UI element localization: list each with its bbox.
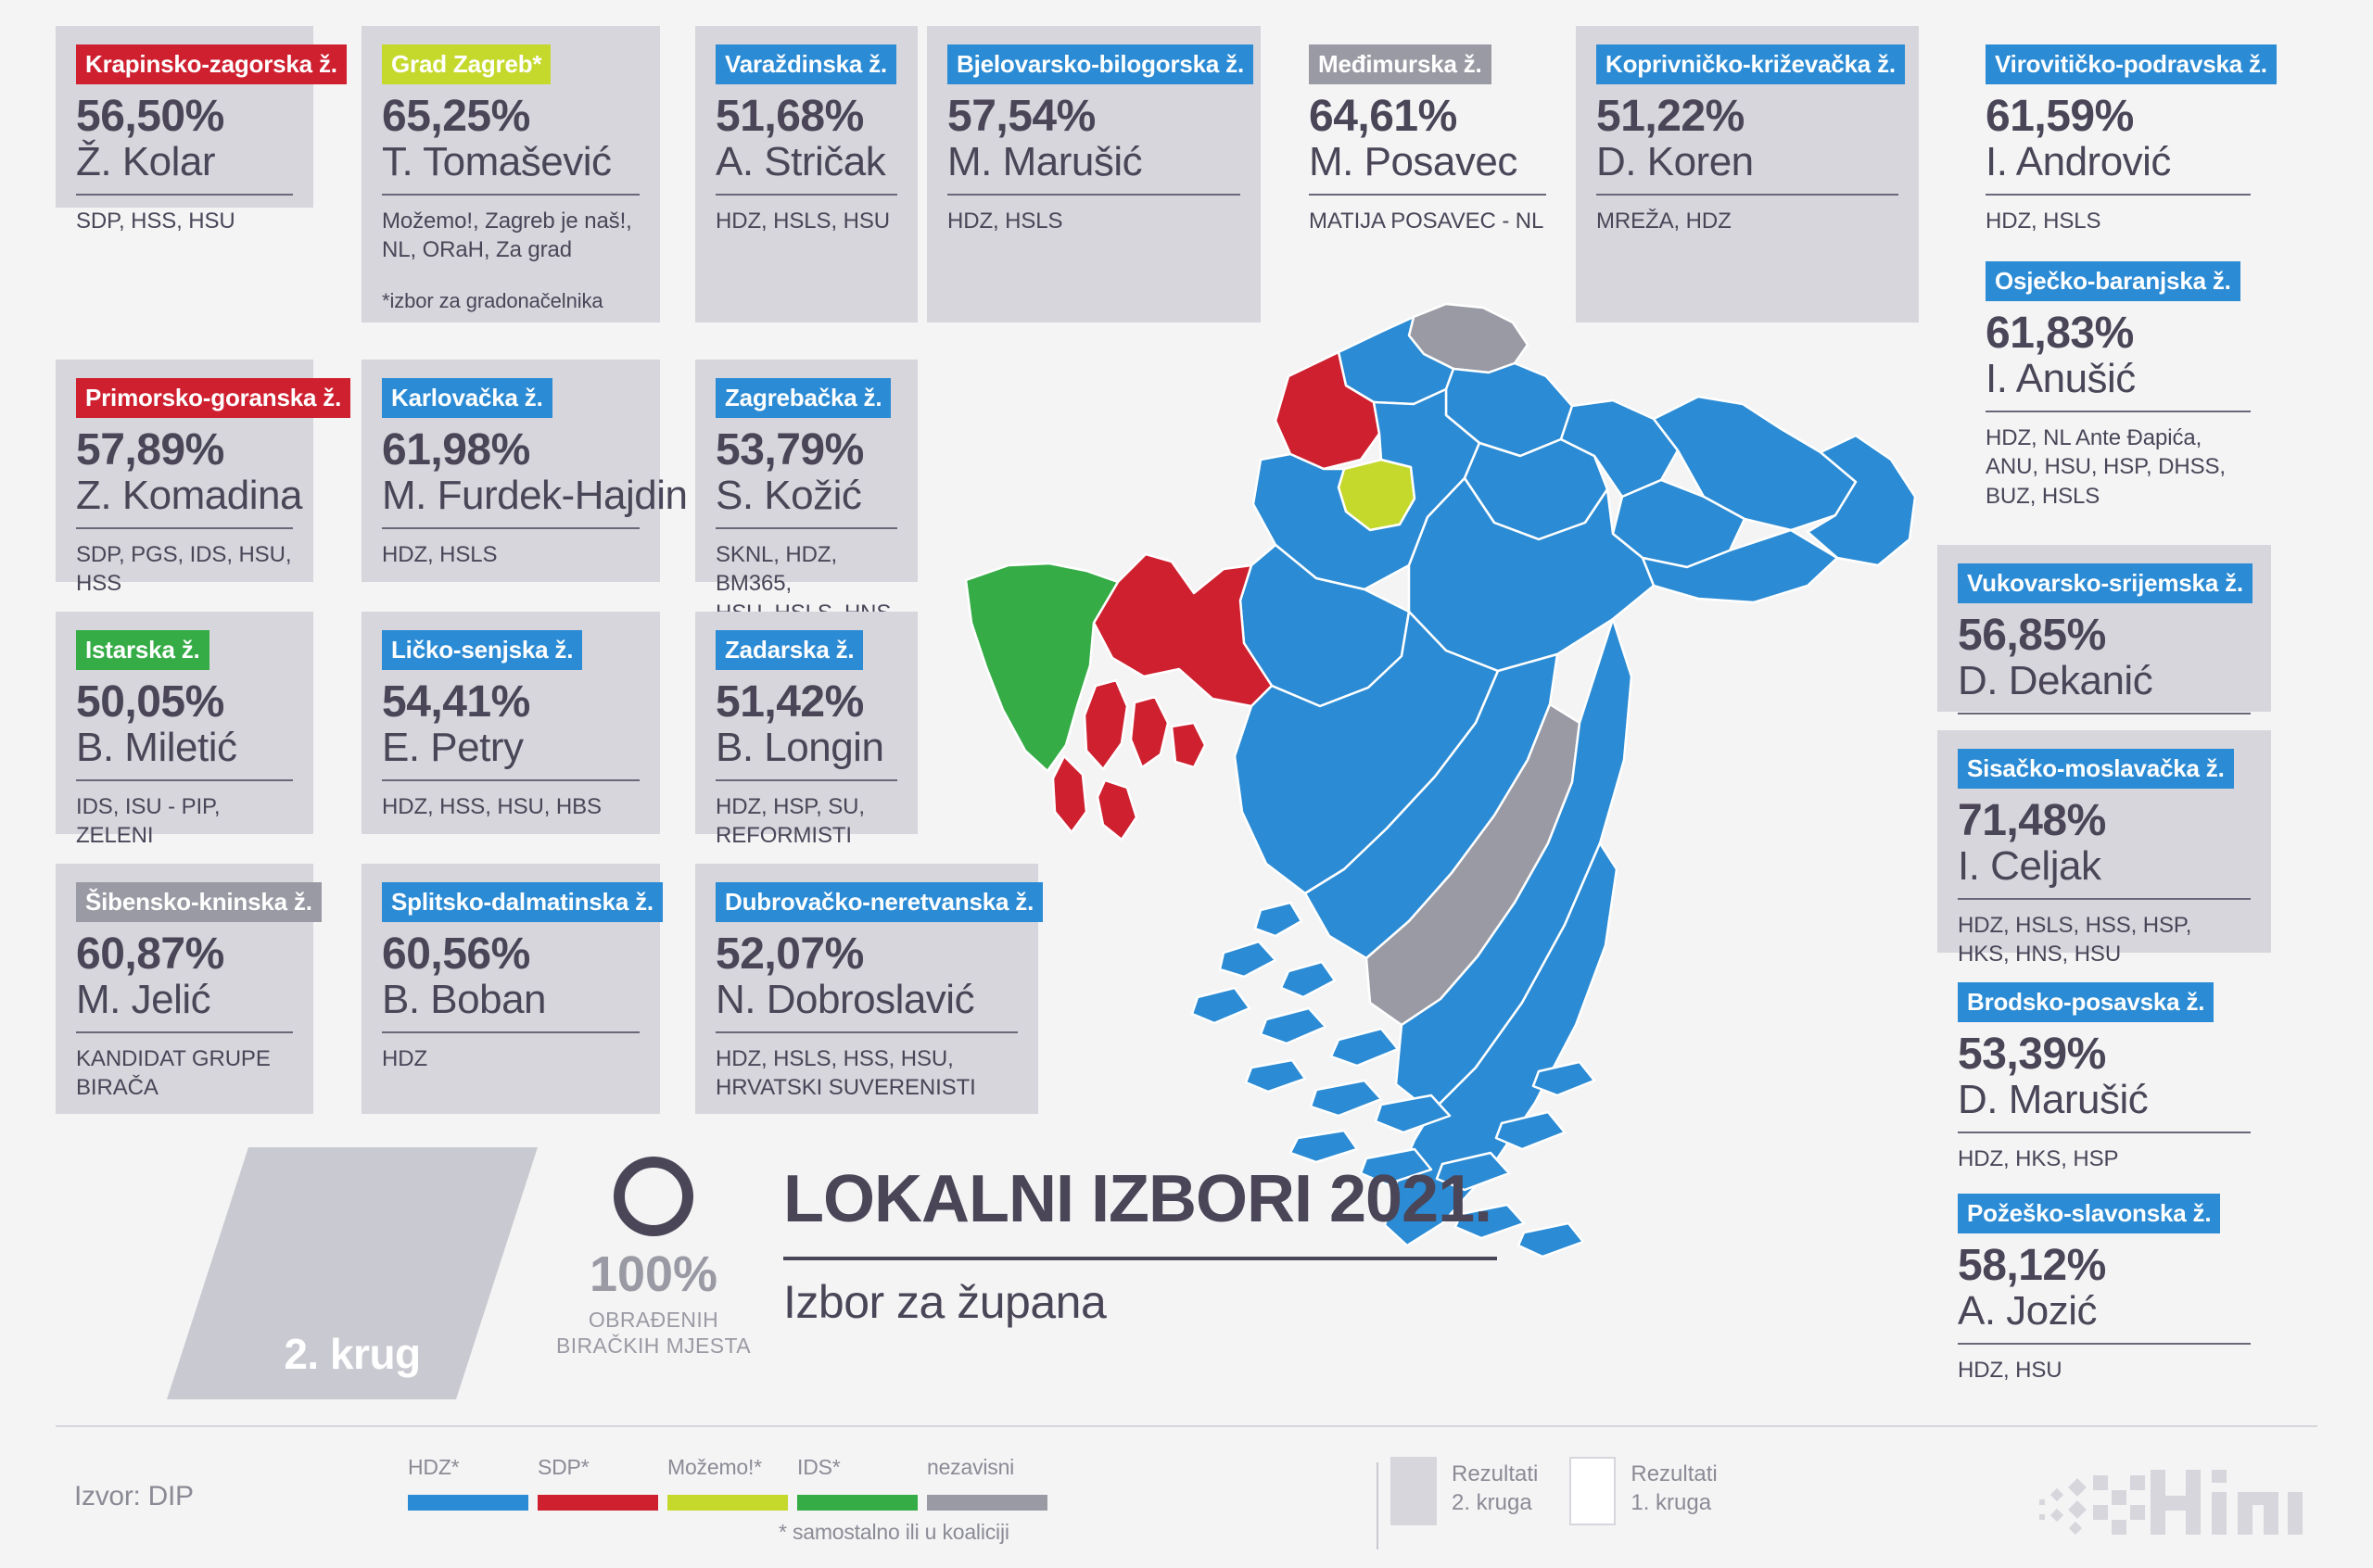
- percentage: 51,68%: [716, 94, 897, 141]
- legend-swatch: [538, 1495, 658, 1511]
- legend-label: HDZ*: [408, 1455, 538, 1480]
- result-card[interactable]: Varaždinska ž. 51,68% A. Stričak HDZ, HS…: [695, 26, 918, 322]
- candidate-name: B. Miletić: [76, 727, 236, 770]
- candidate-name: A. Stričak: [716, 141, 885, 184]
- region-tag: Primorsko-goranska ž.: [76, 378, 350, 418]
- legend-item[interactable]: SDP*: [538, 1455, 667, 1511]
- legend-item[interactable]: IDS*: [797, 1455, 927, 1511]
- percentage: 56,85%: [1958, 613, 2251, 660]
- page-title: LOKALNI IZBORI 2021.: [783, 1166, 1497, 1233]
- candidate-name: D. Marušić: [1958, 1079, 2148, 1122]
- legend-label: Možemo!*: [667, 1455, 797, 1480]
- divider: [76, 527, 293, 529]
- party-list: MREŽA, HDZ: [1596, 207, 1898, 236]
- divider: [1986, 411, 2251, 412]
- title-divider: [783, 1257, 1497, 1260]
- percentage: 57,54%: [947, 94, 1240, 141]
- candidate-name: B. Longin: [716, 727, 883, 770]
- legend-item[interactable]: Možemo!*: [667, 1455, 797, 1511]
- region-tag: Bjelovarsko-bilogorska ž.: [947, 44, 1253, 84]
- legend-footnote: * samostalno ili u koaliciji: [779, 1520, 1009, 1545]
- result-card[interactable]: Primorsko-goranska ž. 57,89% Z. Komadina…: [56, 360, 313, 582]
- result-card[interactable]: Grad Zagreb* 65,25% T. Tomašević Možemo!…: [362, 26, 660, 322]
- card-footnote: *izbor za gradonačelnika: [382, 289, 640, 313]
- region-tag: Ličko-senjska ž.: [382, 630, 582, 670]
- percentage: 58,12%: [1958, 1243, 2251, 1290]
- result-card[interactable]: Brodsko-posavska ž. 53,39% D. Marušić HD…: [1937, 964, 2271, 1149]
- result-card[interactable]: Međimurska ž. 64,61% M. Posavec MATIJA P…: [1288, 26, 1567, 239]
- party-list: IDS, ISU - PIP, ZELENI: [76, 792, 293, 851]
- candidate-name: N. Dobroslavić: [716, 979, 974, 1022]
- result-card[interactable]: Istarska ž. 50,05% B. Miletić IDS, ISU -…: [56, 612, 313, 834]
- party-list: HDZ, HSLS: [382, 540, 640, 570]
- result-card[interactable]: Virovitičko-podravska ž. 61,59% I. Andro…: [1965, 26, 2271, 230]
- divider: [1986, 194, 2251, 196]
- divider: [382, 527, 640, 529]
- region-tag: Požeško-slavonska ž.: [1958, 1194, 2220, 1233]
- result-card[interactable]: Vukovarsko-srijemska ž. 56,85% D. Dekani…: [1937, 545, 2271, 712]
- legend-label: IDS*: [797, 1455, 927, 1480]
- divider: [1309, 194, 1546, 196]
- round-legend: Rezultati 2. kruga Rezultati 1. kruga: [1390, 1457, 1718, 1525]
- round2-swatch: [1390, 1457, 1437, 1525]
- candidate-name: M. Marušić: [947, 141, 1142, 184]
- hina-logo: [2039, 1462, 2308, 1542]
- party-list: HDZ, HSLS: [947, 207, 1240, 236]
- party-list: HDZ, HKS, HSP: [1958, 1144, 2251, 1174]
- divider: [1958, 1343, 2251, 1345]
- party-list: HDZ, HSLS, HSU: [716, 207, 897, 236]
- result-card[interactable]: Karlovačka ž. 61,98% M. Furdek-Hajdin HD…: [362, 360, 660, 582]
- region-tag: Zagrebačka ž.: [716, 378, 891, 418]
- result-card[interactable]: Šibensko-kninska ž. 60,87% M. Jelić KAND…: [56, 864, 313, 1114]
- region-tag: Istarska ž.: [76, 630, 209, 670]
- party-list: HDZ, HSP, SU, REFORMISTI: [716, 792, 897, 851]
- round2-label: Rezultati 2. kruga: [1452, 1457, 1538, 1517]
- result-card[interactable]: Dubrovačko-neretvanska ž. 52,07% N. Dobr…: [695, 864, 1038, 1114]
- percentage: 60,56%: [382, 931, 640, 979]
- region-tag: Sisačko-moslavačka ž.: [1958, 749, 2234, 789]
- percentage: 50,05%: [76, 679, 293, 727]
- region-tag: Dubrovačko-neretvanska ž.: [716, 882, 1043, 922]
- ring-icon: [614, 1157, 693, 1236]
- turnout-caption: OBRAĐENIH BIRAČKIH MJESTA: [547, 1307, 760, 1359]
- percentage: 61,83%: [1986, 310, 2251, 358]
- candidate-name: T. Tomašević: [382, 141, 612, 184]
- party-list: HDZ, HSU: [1958, 1356, 2251, 1385]
- divider: [947, 194, 1240, 196]
- divider: [1596, 194, 1898, 196]
- percentage: 51,22%: [1596, 94, 1898, 141]
- footer-divider: [56, 1425, 2317, 1427]
- candidate-name: B. Boban: [382, 979, 546, 1022]
- region-tag: Grad Zagreb*: [382, 44, 551, 84]
- candidate-name: I. Andrović: [1986, 141, 2171, 184]
- result-card[interactable]: Ličko-senjska ž. 54,41% E. Petry HDZ, HS…: [362, 612, 660, 834]
- divider: [716, 1031, 1018, 1033]
- divider: [76, 779, 293, 781]
- croatia-county-map: [945, 287, 1937, 1270]
- percentage: 65,25%: [382, 94, 640, 141]
- candidate-name: M. Furdek-Hajdin: [382, 474, 687, 518]
- result-card[interactable]: Požeško-slavonska ž. 58,12% A. Jozić HDZ…: [1937, 1175, 2271, 1360]
- round1-legend-item[interactable]: Rezultati 1. kruga: [1569, 1457, 1717, 1525]
- candidate-name: D. Koren: [1596, 141, 1754, 184]
- party-list: SDP, PGS, IDS, HSU, HSS: [76, 540, 293, 599]
- percentage: 61,98%: [382, 427, 640, 474]
- percentage: 71,48%: [1958, 798, 2251, 845]
- round1-label: Rezultati 1. kruga: [1631, 1457, 1717, 1517]
- candidate-name: S. Kožić: [716, 474, 861, 518]
- percentage: 53,39%: [1958, 1031, 2251, 1079]
- party-list: HDZ, HSLS, HSS, HSU, HRVATSKI SUVERENIST…: [716, 1044, 1018, 1103]
- region-tag: Koprivničko-križevačka ž.: [1596, 44, 1905, 84]
- infographic-root: Krapinsko-zagorska ž. 56,50% Ž. Kolar SD…: [0, 0, 2373, 1568]
- legend-swatch: [408, 1495, 528, 1511]
- party-list: HDZ, HSS, HSU, HBS: [382, 792, 640, 822]
- legend-swatch: [797, 1495, 918, 1511]
- result-card[interactable]: Sisačko-moslavačka ž. 71,48% I. Celjak H…: [1937, 730, 2271, 953]
- footer-vertical-divider: [1377, 1462, 1378, 1549]
- page-subtitle: Izbor za župana: [783, 1279, 1497, 1325]
- legend-item[interactable]: HDZ*: [408, 1455, 538, 1511]
- region-tag: Krapinsko-zagorska ž.: [76, 44, 347, 84]
- region-tag: Splitsko-dalmatinska ž.: [382, 882, 663, 922]
- legend-swatch: [667, 1495, 788, 1511]
- candidate-name: Ž. Kolar: [76, 141, 215, 184]
- party-list: HDZ, HSLS, HSS, HSP, HKS, HNS, HSU: [1958, 911, 2251, 969]
- title-block: LOKALNI IZBORI 2021. Izbor za župana: [783, 1166, 1497, 1325]
- divider: [76, 194, 293, 196]
- party-list: HDZ: [382, 1044, 640, 1074]
- region-tag: Međimurska ž.: [1309, 44, 1491, 84]
- divider: [382, 1031, 640, 1033]
- percentage: 54,41%: [382, 679, 640, 727]
- percentage: 52,07%: [716, 931, 1018, 979]
- party-legend: HDZ* SDP* Možemo!* IDS* nezavisni: [408, 1455, 1057, 1511]
- candidate-name: I. Anušić: [1986, 358, 2136, 401]
- round-badge-label: 2. krug: [167, 1147, 538, 1399]
- candidate-name: I. Celjak: [1958, 845, 2100, 889]
- region-tag: Karlovačka ž.: [382, 378, 552, 418]
- percentage: 51,42%: [716, 679, 897, 727]
- candidate-name: Z. Komadina: [76, 474, 302, 518]
- candidate-name: D. Dekanić: [1958, 660, 2152, 703]
- percentage: 53,79%: [716, 427, 897, 474]
- party-list: Možemo!, Zagreb je naš!, NL, ORaH, Za gr…: [382, 207, 640, 265]
- legend-label: nezavisni: [927, 1455, 1057, 1480]
- legend-item[interactable]: nezavisni: [927, 1455, 1057, 1511]
- divider: [1958, 898, 2251, 900]
- region-tag: Varaždinska ž.: [716, 44, 896, 84]
- region-tag: Virovitičko-podravska ž.: [1986, 44, 2277, 84]
- divider: [382, 779, 640, 781]
- turnout-percent: 100%: [547, 1249, 760, 1299]
- percentage: 64,61%: [1309, 94, 1546, 141]
- divider: [382, 194, 640, 196]
- party-list: HDZ, HSLS: [1986, 207, 2251, 236]
- result-card[interactable]: Krapinsko-zagorska ž. 56,50% Ž. Kolar SD…: [56, 26, 313, 208]
- percentage: 56,50%: [76, 94, 293, 141]
- region-tag: Vukovarsko-srijemska ž.: [1958, 563, 2252, 603]
- candidate-name: M. Posavec: [1309, 141, 1517, 184]
- round1-swatch: [1569, 1457, 1616, 1525]
- result-card[interactable]: Zagrebačka ž. 53,79% S. Kožić SKNL, HDZ,…: [695, 360, 918, 582]
- source-label: Izvor: DIP: [74, 1481, 194, 1512]
- divider: [1958, 713, 2251, 714]
- divider: [716, 779, 897, 781]
- candidate-name: E. Petry: [382, 727, 524, 770]
- region-tag: Osječko-baranjska ž.: [1986, 261, 2240, 301]
- percentage: 60,87%: [76, 931, 293, 979]
- divider: [1958, 1132, 2251, 1133]
- result-card[interactable]: Splitsko-dalmatinska ž. 60,56% B. Boban …: [362, 864, 660, 1114]
- legend-swatch: [927, 1495, 1047, 1511]
- result-card[interactable]: Zadarska ž. 51,42% B. Longin HDZ, HSP, S…: [695, 612, 918, 834]
- region-tag: Zadarska ž.: [716, 630, 863, 670]
- party-list: MATIJA POSAVEC - NL: [1309, 207, 1546, 236]
- candidate-name: M. Jelić: [76, 979, 210, 1022]
- divider: [716, 527, 897, 529]
- percentage: 61,59%: [1986, 94, 2251, 141]
- divider: [716, 194, 897, 196]
- divider: [76, 1031, 293, 1033]
- candidate-name: A. Jozić: [1958, 1290, 2097, 1334]
- result-card[interactable]: Koprivničko-križevačka ž. 51,22% D. Kore…: [1576, 26, 1919, 322]
- party-list: KANDIDAT GRUPE BIRAČA: [76, 1044, 293, 1103]
- party-list: HDZ, NL Ante Đapića, ANU, HSU, HSP, DHSS…: [1986, 424, 2251, 512]
- result-card[interactable]: Osječko-baranjska ž. 61,83% I. Anušić HD…: [1965, 243, 2271, 530]
- result-card[interactable]: Bjelovarsko-bilogorska ž. 57,54% M. Maru…: [927, 26, 1261, 322]
- percentage: 57,89%: [76, 427, 293, 474]
- turnout-block: 100% OBRAĐENIH BIRAČKIH MJESTA: [547, 1157, 760, 1359]
- region-tag: Šibensko-kninska ž.: [76, 882, 322, 922]
- legend-label: SDP*: [538, 1455, 667, 1480]
- round2-legend-item[interactable]: Rezultati 2. kruga: [1390, 1457, 1538, 1525]
- region-tag: Brodsko-posavska ž.: [1958, 982, 2214, 1022]
- party-list: SDP, HSS, HSU: [76, 207, 293, 236]
